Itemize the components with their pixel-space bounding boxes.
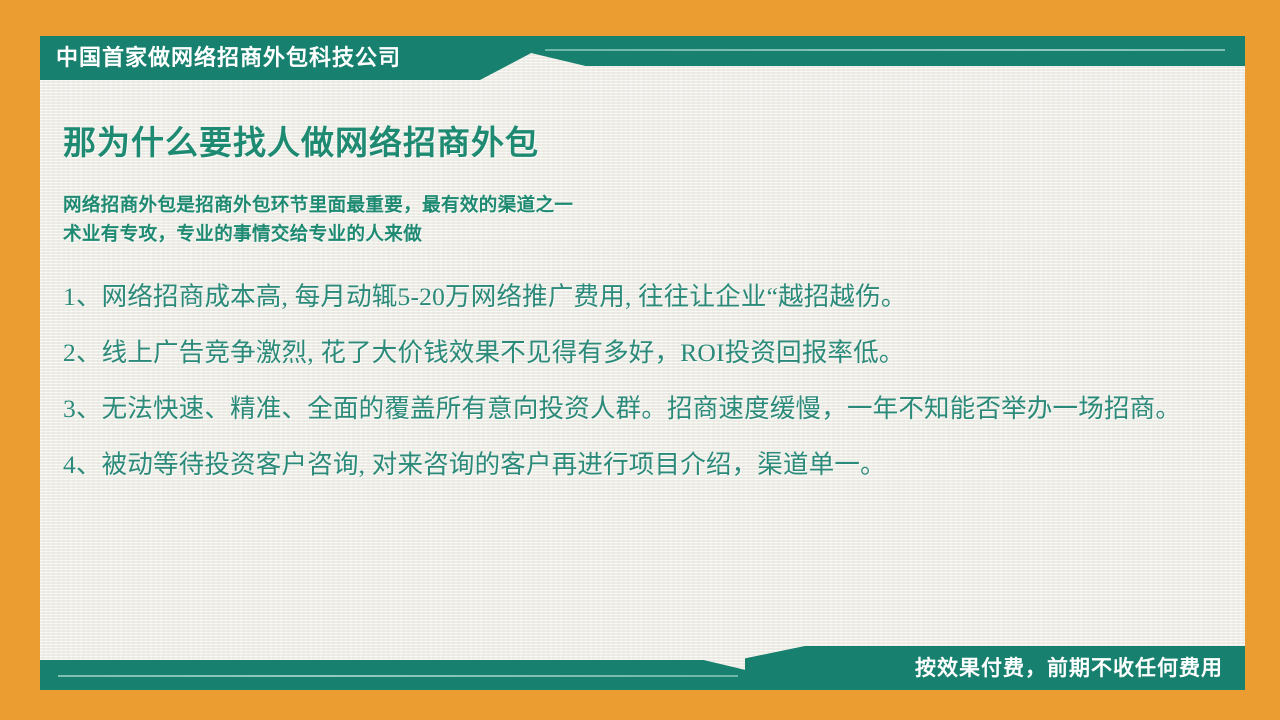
points-list: 1、网络招商成本高, 每月动辄5-20万网络推广费用, 往往让企业“越招越伤。 … bbox=[63, 279, 1223, 483]
header-title: 中国首家做网络招商外包科技公司 bbox=[56, 36, 401, 80]
footer-tagline: 按效果付费，前期不收任何费用 bbox=[915, 646, 1223, 690]
header-banner: 中国首家做网络招商外包科技公司 bbox=[40, 36, 1245, 80]
header-thin-band bbox=[460, 36, 1245, 66]
slide-root: 中国首家做网络招商外包科技公司 那为什么要找人做网络招商外包 网络招商外包是招商… bbox=[0, 0, 1280, 720]
footer-accent-line bbox=[58, 675, 738, 677]
list-item: 3、无法快速、精准、全面的覆盖所有意向投资人群。招商速度缓慢，一年不知能否举办一… bbox=[63, 391, 1223, 426]
list-item: 2、线上广告竞争激烈, 花了大价钱效果不见得有多好，ROI投资回报率低。 bbox=[63, 335, 1223, 370]
subtitle-line-2: 术业有专攻，专业的事情交给专业的人来做 bbox=[63, 220, 1223, 249]
footer-banner: 按效果付费，前期不收任何费用 bbox=[40, 646, 1245, 690]
slide-content: 那为什么要找人做网络招商外包 网络招商外包是招商外包环节里面最重要，最有效的渠道… bbox=[63, 122, 1223, 482]
list-item: 1、网络招商成本高, 每月动辄5-20万网络推广费用, 往往让企业“越招越伤。 bbox=[63, 279, 1223, 314]
subtitle-block: 网络招商外包是招商外包环节里面最重要，最有效的渠道之一 术业有专攻，专业的事情交… bbox=[63, 191, 1223, 248]
list-item: 4、被动等待投资客户咨询, 对来咨询的客户再进行项目介绍，渠道单一。 bbox=[63, 447, 1223, 482]
subtitle-line-1: 网络招商外包是招商外包环节里面最重要，最有效的渠道之一 bbox=[63, 191, 1223, 220]
header-accent-line bbox=[545, 49, 1225, 51]
page-title: 那为什么要找人做网络招商外包 bbox=[63, 122, 1223, 163]
